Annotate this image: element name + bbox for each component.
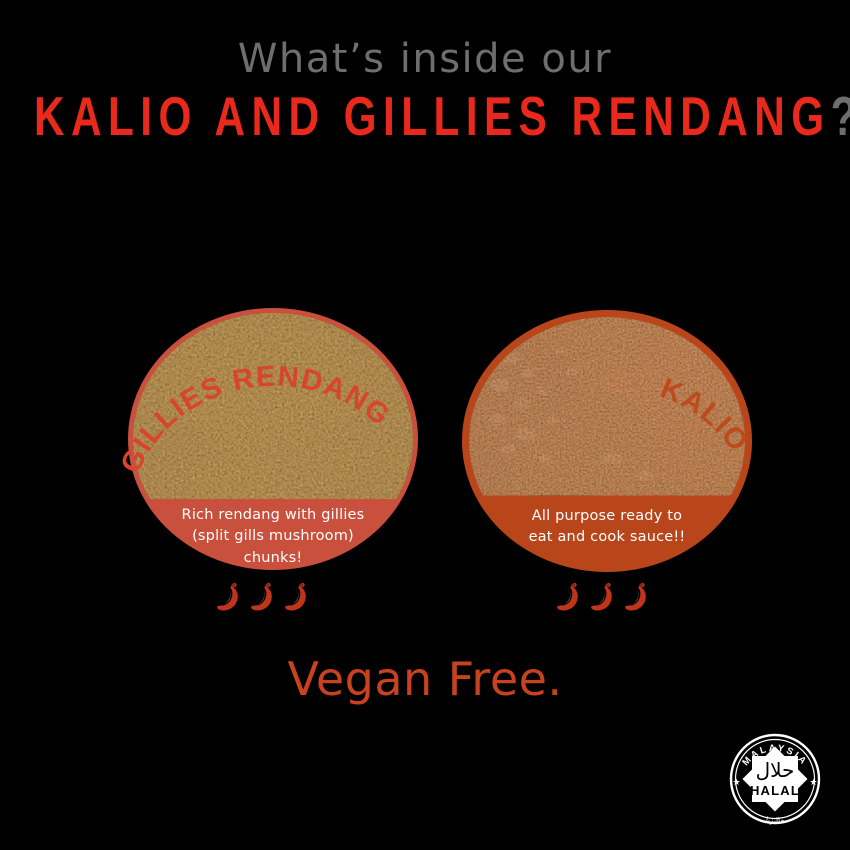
halal-arabic-word: حلال bbox=[756, 758, 795, 782]
halal-word-text: HALAL bbox=[750, 783, 800, 798]
headline-line-2: KALIO AND GILLIES RENDANG? bbox=[34, 88, 816, 145]
caption-line: chunks! bbox=[144, 548, 402, 566]
product-disc-inner-kalio: All purpose ready to eat and cook sauce!… bbox=[469, 317, 745, 565]
product-photo-gillies-rendang bbox=[133, 313, 413, 499]
chilli-pepper-icon bbox=[621, 580, 651, 614]
halal-certification-logo: MALAYSIA ★ ★ حلال HALAL ماليزيا bbox=[723, 727, 827, 831]
chilli-pepper-icon bbox=[213, 580, 243, 614]
halal-star-left-icon: ★ bbox=[732, 777, 740, 787]
halal-bottom-arabic: ماليزيا bbox=[765, 815, 785, 825]
product-photo-kalio bbox=[469, 317, 745, 496]
product-card-kalio[interactable]: All purpose ready to eat and cook sauce!… bbox=[462, 310, 752, 572]
product-card-gillies-rendang[interactable]: Rich rendang with gillies (split gills m… bbox=[128, 308, 418, 570]
caption-line: Rich rendang with gillies bbox=[144, 505, 402, 526]
product-caption-gillies: Rich rendang with gillies (split gills m… bbox=[144, 505, 402, 565]
spice-rating-kalio bbox=[553, 580, 651, 614]
headline-line-1: What’s inside our bbox=[0, 38, 850, 80]
headline-product-names: KALIO AND GILLIES RENDANG bbox=[34, 86, 831, 147]
chilli-pepper-icon bbox=[281, 580, 311, 614]
caption-line: eat and cook sauce!! bbox=[480, 527, 734, 548]
chilli-pepper-icon bbox=[587, 580, 617, 614]
product-disc-gillies: Rich rendang with gillies (split gills m… bbox=[128, 308, 418, 570]
product-disc-inner-gillies: Rich rendang with gillies (split gills m… bbox=[133, 313, 413, 565]
product-caption-kalio: All purpose ready to eat and cook sauce!… bbox=[480, 506, 734, 548]
chilli-pepper-icon bbox=[553, 580, 583, 614]
product-caption-band-gillies: Rich rendang with gillies (split gills m… bbox=[133, 499, 413, 565]
caption-line: (split gills mushroom) bbox=[144, 526, 402, 547]
product-caption-band-kalio: All purpose ready to eat and cook sauce!… bbox=[469, 496, 745, 565]
headline-block: What’s inside our KALIO AND GILLIES REND… bbox=[0, 38, 850, 136]
poster-canvas: What’s inside our KALIO AND GILLIES REND… bbox=[0, 0, 850, 850]
spice-rating-gillies-rendang bbox=[213, 580, 311, 614]
halal-star-right-icon: ★ bbox=[809, 777, 817, 787]
chilli-pepper-icon bbox=[247, 580, 277, 614]
product-disc-kalio: All purpose ready to eat and cook sauce!… bbox=[462, 310, 752, 572]
caption-line: All purpose ready to bbox=[480, 506, 734, 527]
headline-question-mark: ? bbox=[831, 86, 850, 147]
tagline-vegan-free: Vegan Free. bbox=[0, 652, 850, 706]
